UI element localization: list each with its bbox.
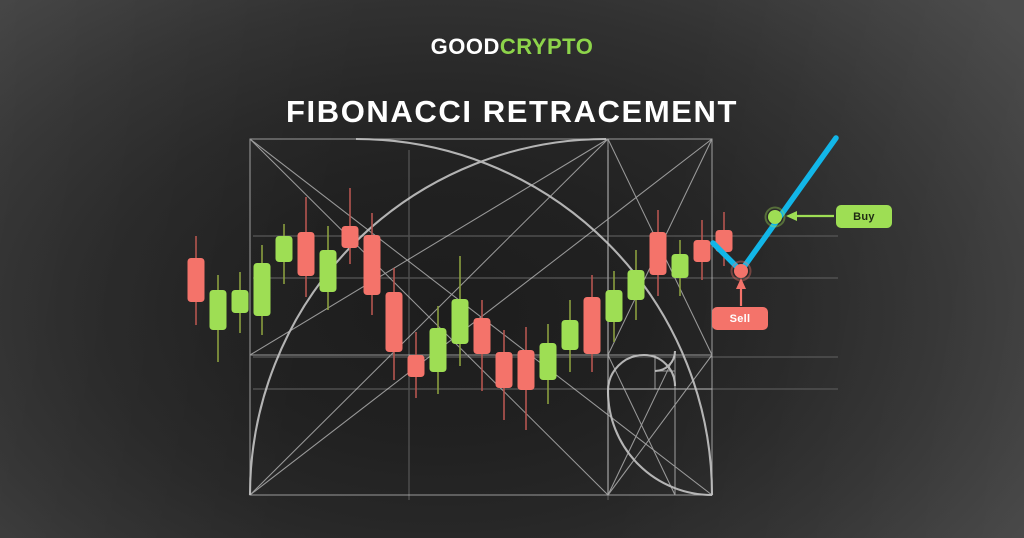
candlestick-series	[188, 188, 733, 430]
candle-body	[628, 270, 645, 300]
sell-point-marker	[732, 262, 751, 281]
candle-body	[254, 263, 271, 316]
candle-body	[276, 236, 293, 262]
spiral-construction-lines	[250, 139, 712, 495]
candle-body	[342, 226, 359, 248]
sell-signal-label: Sell	[712, 307, 768, 330]
fibonacci-retracement-infographic: GOODCRYPTO FIBONACCI RETRACEMENT Buy Sel…	[0, 0, 1024, 538]
candle-bullish	[276, 224, 293, 284]
candle-bearish	[298, 197, 315, 297]
candle-bullish	[210, 275, 227, 362]
candle-body	[694, 240, 711, 262]
candle-body	[364, 235, 381, 295]
candle-body	[452, 299, 469, 344]
candle-bearish	[650, 210, 667, 296]
candle-body	[540, 343, 557, 380]
candle-body	[606, 290, 623, 322]
candle-body	[298, 232, 315, 276]
candle-bullish	[672, 240, 689, 296]
candle-body	[430, 328, 447, 372]
candle-body	[386, 292, 403, 352]
trend-lines	[713, 138, 836, 271]
candle-bearish	[408, 332, 425, 398]
candle-body	[650, 232, 667, 275]
candle-bearish	[496, 330, 513, 420]
candle-bearish	[694, 220, 711, 280]
candle-body	[496, 352, 513, 388]
candle-body	[232, 290, 249, 313]
sell-point-marker-dot	[734, 264, 748, 278]
buy-point-marker	[766, 208, 785, 227]
brand-logo-secondary: CRYPTO	[500, 34, 593, 59]
candle-bullish	[452, 256, 469, 366]
brand-logo: GOODCRYPTO	[0, 36, 1024, 58]
candle-bullish	[320, 226, 337, 310]
buy-arrow-icon	[786, 211, 834, 221]
candle-body	[518, 350, 535, 390]
sell-arrow-icon	[736, 278, 746, 306]
buy-point-marker-dot	[768, 210, 782, 224]
brand-logo-primary: GOOD	[431, 34, 500, 59]
candle-body	[188, 258, 205, 302]
candle-body	[584, 297, 601, 354]
candle-bearish	[518, 327, 535, 430]
page-title: FIBONACCI RETRACEMENT	[0, 95, 1024, 129]
candle-bullish	[232, 272, 249, 333]
candle-bearish	[386, 268, 403, 380]
trend-line-up	[741, 138, 836, 271]
golden-spiral-overlay	[250, 139, 712, 495]
buy-signal-label: Buy	[836, 205, 892, 228]
candle-body	[474, 318, 491, 354]
chart-artwork	[0, 0, 1024, 538]
candle-body	[672, 254, 689, 278]
candle-bearish	[188, 236, 205, 325]
candle-bullish	[540, 324, 557, 404]
candle-bullish	[430, 306, 447, 394]
candle-body	[562, 320, 579, 350]
candle-body	[320, 250, 337, 292]
candle-bullish	[562, 300, 579, 372]
candle-bullish	[254, 245, 271, 335]
candle-body	[210, 290, 227, 330]
candle-body	[408, 355, 425, 377]
